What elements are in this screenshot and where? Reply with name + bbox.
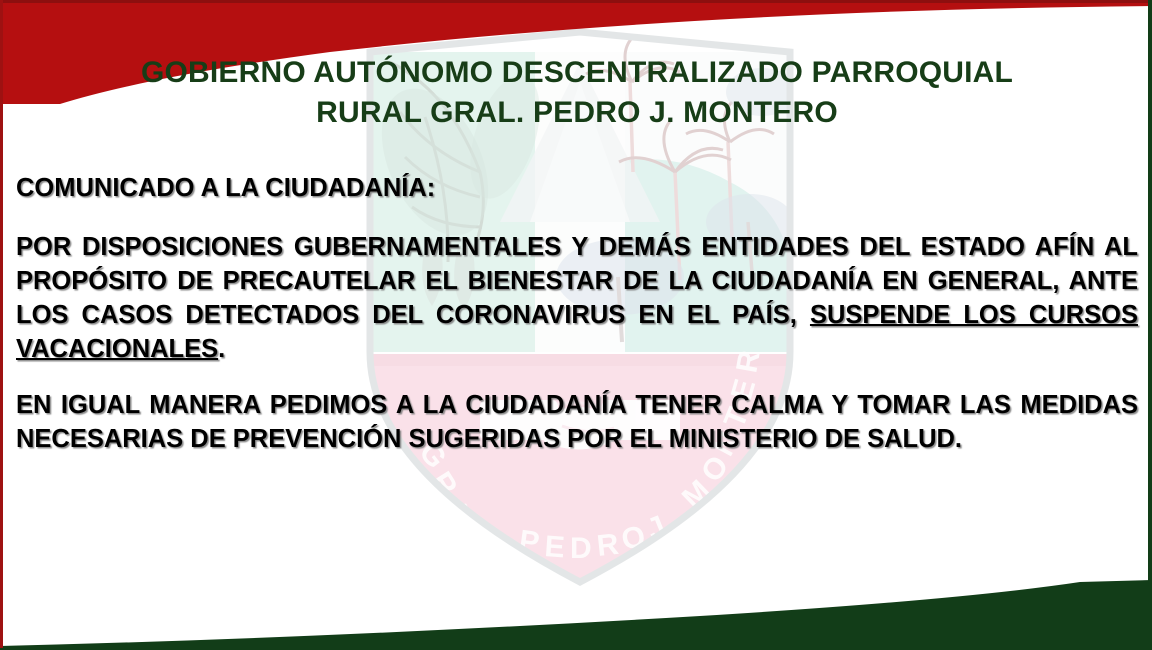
salutation-text: COMUNICADO A LA CIUDADANÍA: — [16, 132, 1138, 206]
organization-title: GOBIERNO AUTÓNOMO DESCENTRALIZADO PARROQ… — [16, 0, 1138, 132]
announcement-poster: G R A L . P E D R O J . M O N T E R — [0, 0, 1152, 650]
paragraph-suspension: POR DISPOSICIONES GUBERNAMENTALES Y DEMÁ… — [16, 206, 1138, 367]
poster-content: GOBIERNO AUTÓNOMO DESCENTRALIZADO PARROQ… — [0, 0, 1152, 650]
paragraph-1-trailing-text: . — [218, 335, 225, 363]
paragraph-prevention: EN IGUAL MANERA PEDIMOS A LA CIUDADANÍA … — [16, 367, 1138, 457]
